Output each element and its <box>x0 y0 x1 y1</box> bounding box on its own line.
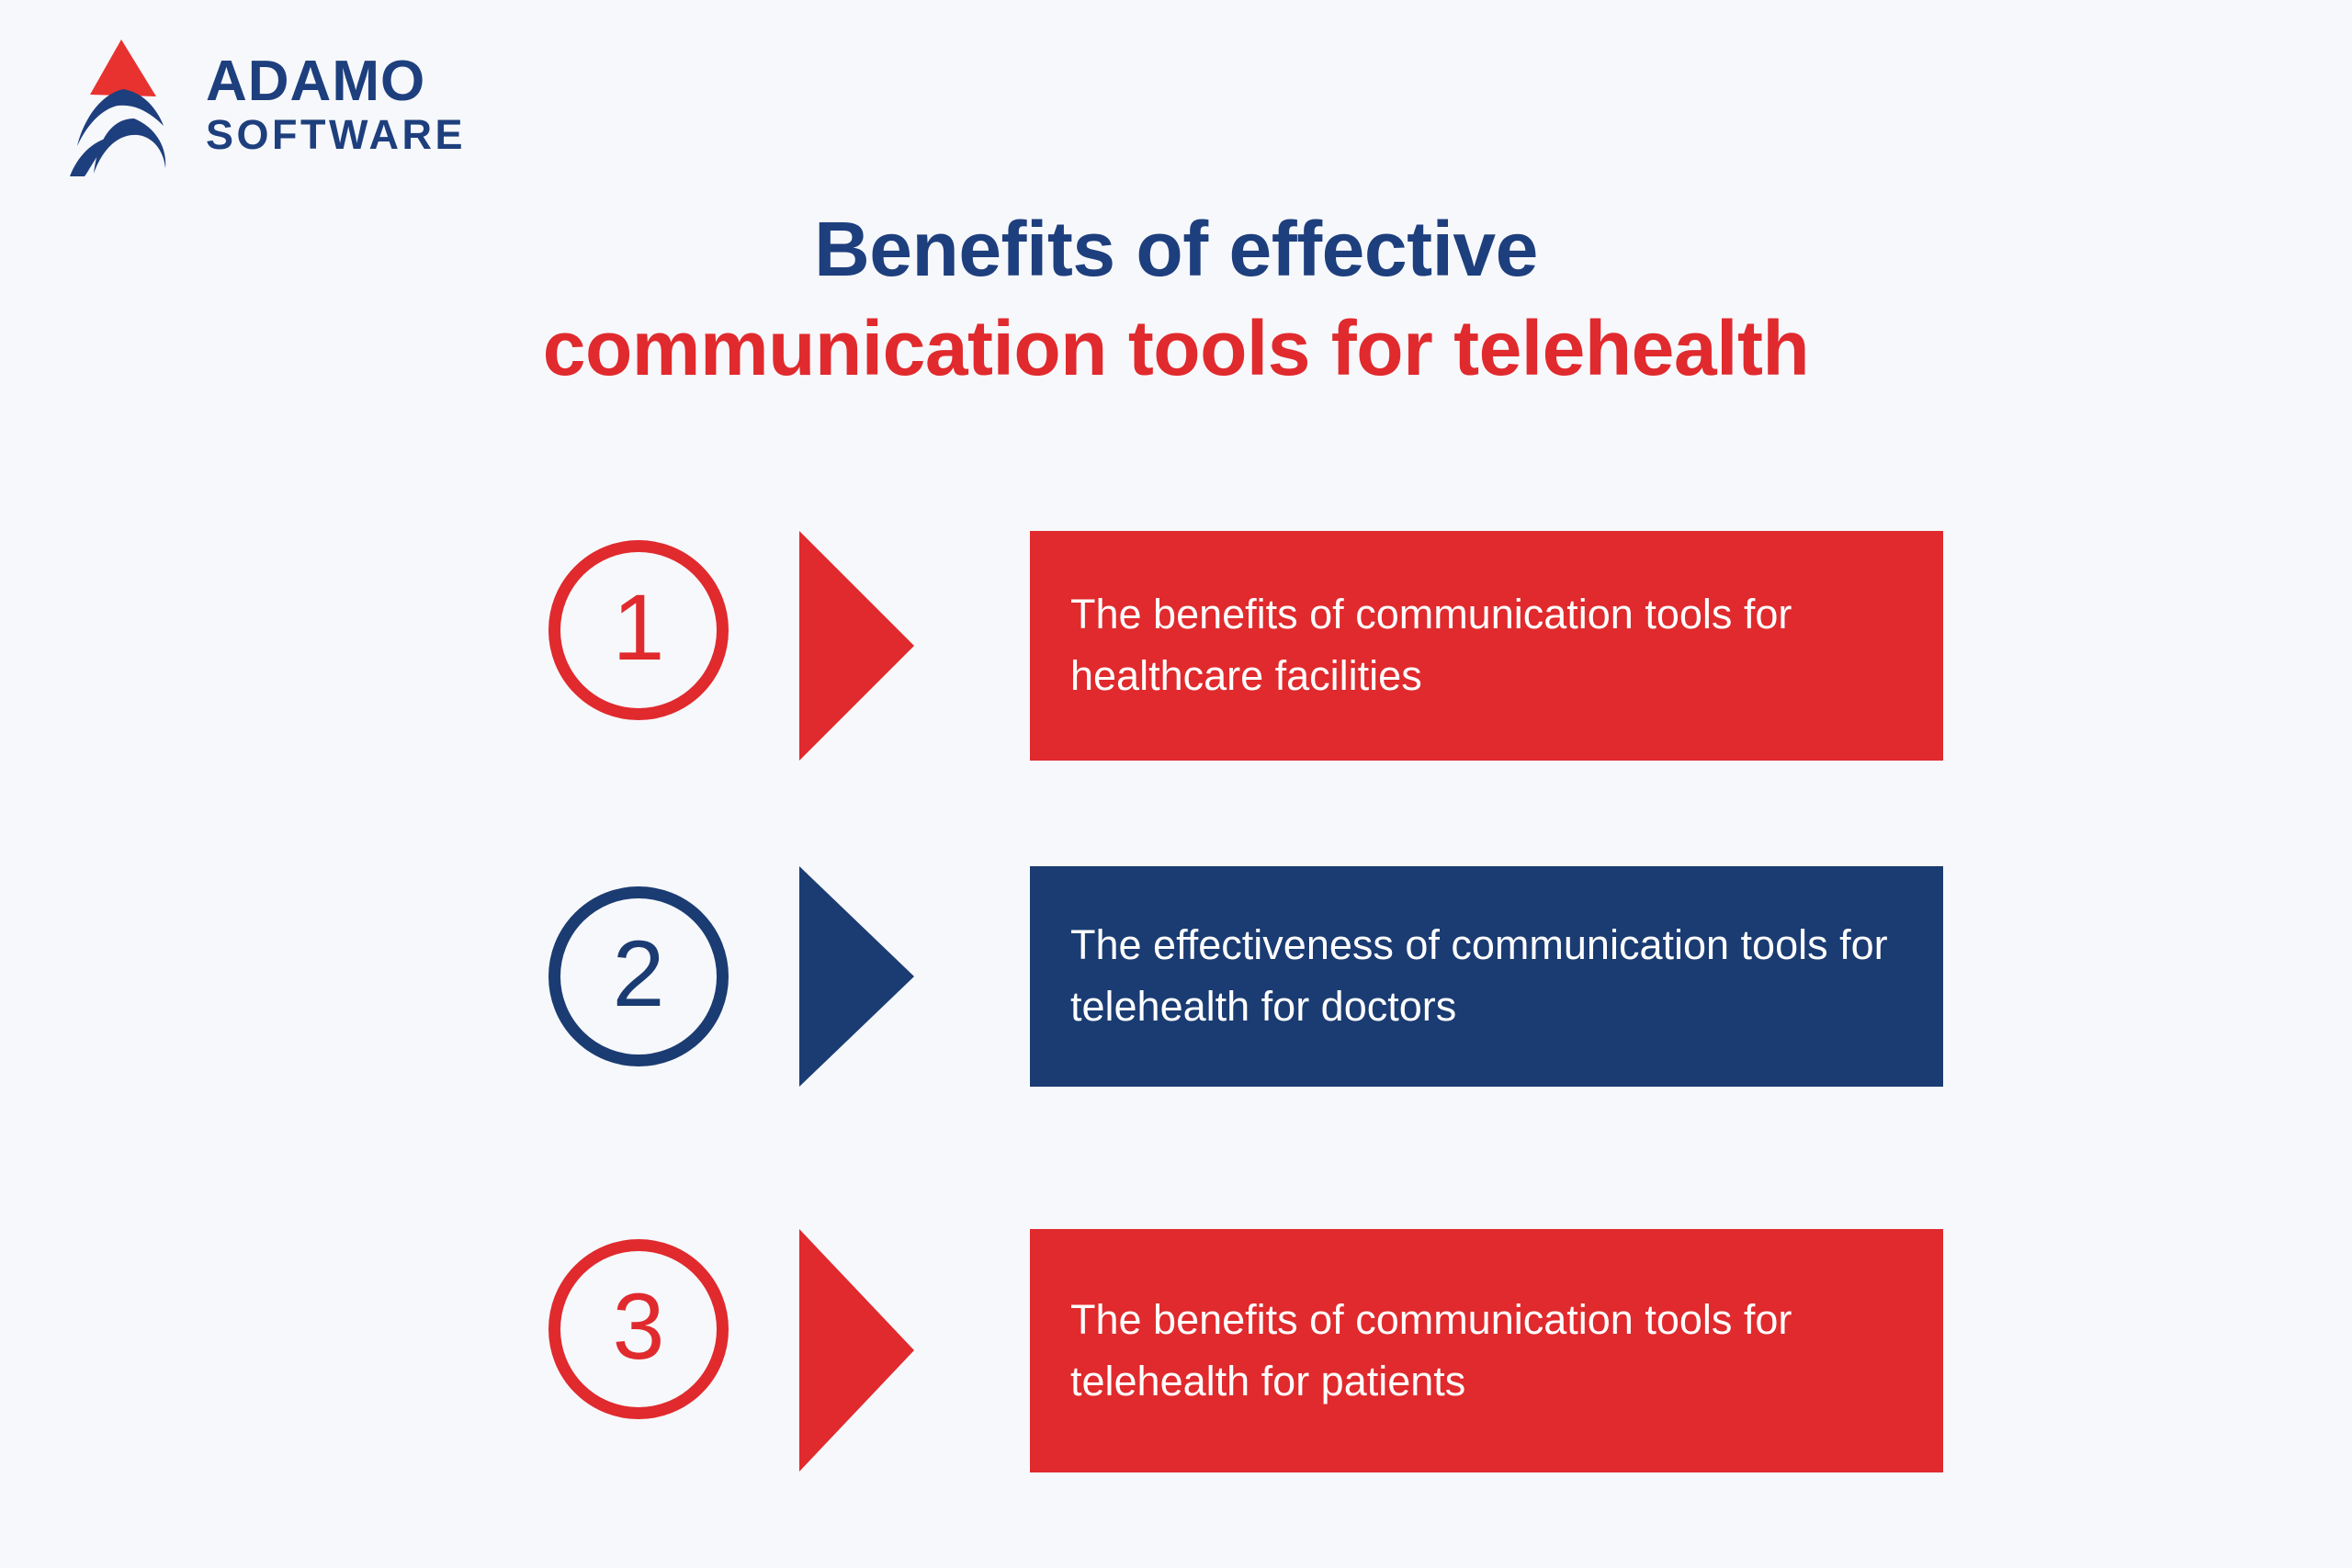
title-line-secondary: communication tools for telehealth <box>0 299 2352 399</box>
step-number-badge: 1 <box>548 540 729 720</box>
chevron-right-icon <box>799 866 914 1087</box>
wordmark-software: SOFTWARE <box>206 115 466 155</box>
step-number-label: 3 <box>613 1280 665 1373</box>
chevron-right-icon <box>799 1229 914 1472</box>
benefits-list: 1 The benefits of communication tools fo… <box>0 514 2352 1452</box>
benefit-card-text: The benefits of communication tools for … <box>1070 1290 1903 1412</box>
benefit-card[interactable]: The benefits of communication tools for … <box>1030 531 1943 761</box>
chevron-right-icon <box>799 531 914 761</box>
benefit-card-text: The effectiveness of communication tools… <box>1070 915 1903 1037</box>
page-title: Benefits of effective communication tool… <box>0 200 2352 398</box>
list-item[interactable]: 3 The benefits of communication tools fo… <box>0 1209 2352 1452</box>
wordmark-adamo: ADAMO <box>206 54 466 110</box>
step-number-label: 1 <box>613 581 665 674</box>
list-item[interactable]: 1 The benefits of communication tools fo… <box>0 514 2352 744</box>
brand-logo[interactable]: ADAMO SOFTWARE <box>57 31 571 178</box>
list-item[interactable]: 2 The effectiveness of communication too… <box>0 866 2352 1087</box>
adamo-swoosh-arrow-logo-icon <box>57 34 186 176</box>
step-number-badge: 3 <box>548 1239 729 1419</box>
benefit-card[interactable]: The effectiveness of communication tools… <box>1030 866 1943 1087</box>
step-number-label: 2 <box>613 927 665 1021</box>
step-number-badge: 2 <box>548 886 729 1066</box>
benefit-card[interactable]: The benefits of communication tools for … <box>1030 1229 1943 1472</box>
title-line-primary: Benefits of effective <box>0 200 2352 299</box>
brand-wordmark: ADAMO SOFTWARE <box>206 54 466 156</box>
benefit-card-text: The benefits of communication tools for … <box>1070 584 1903 706</box>
